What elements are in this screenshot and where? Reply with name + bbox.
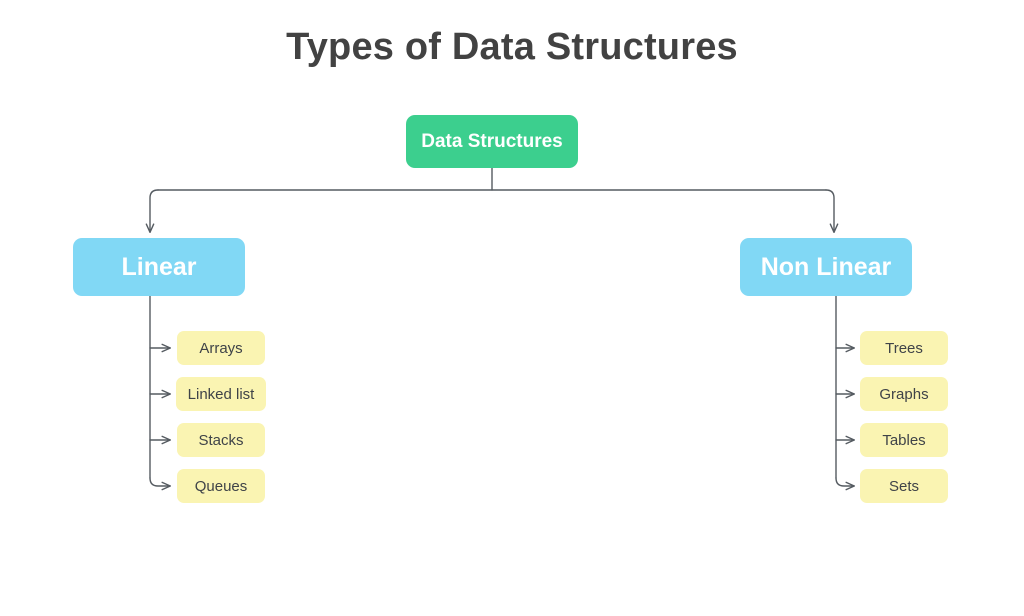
node-leaf-queues[interactable]: Queues xyxy=(177,469,265,503)
node-leaf-tables[interactable]: Tables xyxy=(860,423,948,457)
node-leaf-linked-list[interactable]: Linked list xyxy=(176,377,266,411)
page-title: Types of Data Structures xyxy=(0,26,1024,69)
diagram-canvas: Types of Data Structures xyxy=(0,0,1024,616)
node-leaf-arrays[interactable]: Arrays xyxy=(177,331,265,365)
connector-to-nonlinear xyxy=(826,190,834,232)
node-leaf-stacks[interactable]: Stacks xyxy=(177,423,265,457)
node-leaf-graphs[interactable]: Graphs xyxy=(860,377,948,411)
connector-nonlinear-to-sets xyxy=(836,478,854,486)
node-leaf-sets[interactable]: Sets xyxy=(860,469,948,503)
node-root-data-structures[interactable]: Data Structures xyxy=(406,115,578,168)
node-branch-linear[interactable]: Linear xyxy=(73,238,245,296)
connector-lines xyxy=(0,0,1024,616)
node-leaf-trees[interactable]: Trees xyxy=(860,331,948,365)
connector-linear-to-queues xyxy=(150,478,170,486)
node-branch-non-linear[interactable]: Non Linear xyxy=(740,238,912,296)
connector-to-linear xyxy=(150,190,158,232)
